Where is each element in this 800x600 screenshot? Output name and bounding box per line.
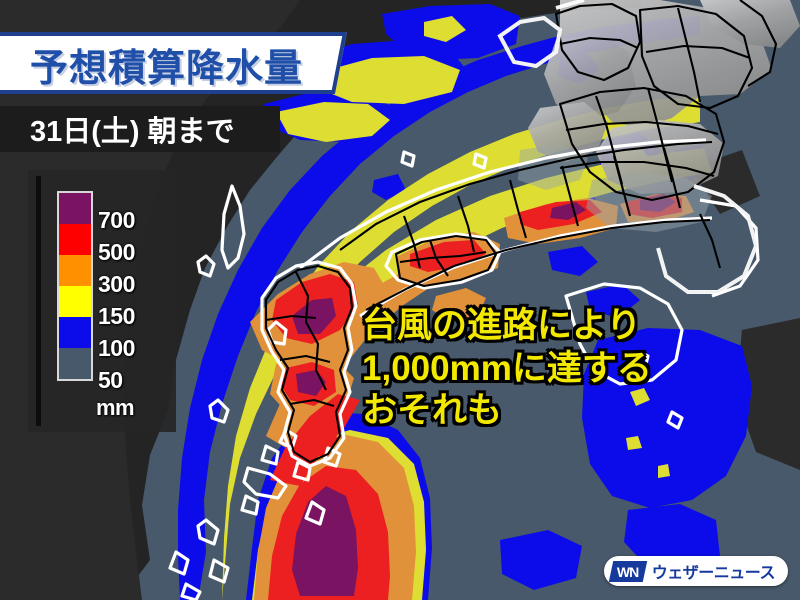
logo-brand-name: ウェザーニュース: [652, 559, 775, 583]
legend-label-500: 500: [98, 241, 135, 264]
legend-swatch-50-100: [59, 348, 91, 379]
legend-swatch-150-300: [59, 286, 91, 317]
page-title: 予想積算降水量: [30, 36, 350, 92]
legend-labels: 700 500 300 150 100 50: [98, 191, 168, 406]
legend-swatch-over-700: [59, 193, 91, 224]
legend-label-150: 150: [98, 305, 135, 328]
legend-color-bar: [57, 191, 93, 381]
weathernews-logo[interactable]: WN ウェザーニュース: [604, 556, 788, 586]
legend-label-700: 700: [98, 209, 135, 232]
legend-accent-stripe: [36, 176, 41, 426]
forecast-period-label: 31日(土) 朝まで: [30, 106, 235, 152]
headline-line-2: 1,000mmに達する: [362, 348, 792, 391]
wn-mark-icon: WN: [609, 561, 647, 582]
weather-map-screenshot: 700 500 300 150 100 50 mm 予想積算降水量 31日(土)…: [0, 0, 800, 600]
headline-line-1: 台風の進路により: [362, 305, 792, 348]
wn-mark-text: WN: [617, 563, 638, 579]
headline-overlay: 台風の進路により 1,000mmに達する おそれも: [362, 305, 792, 433]
legend-swatch-100-150: [59, 317, 91, 348]
headline-line-3: おそれも: [362, 390, 792, 433]
legend-label-100: 100: [98, 337, 135, 360]
legend-label-300: 300: [98, 273, 135, 296]
legend-unit-label: mm: [96, 395, 134, 421]
legend-swatch-300-500: [59, 255, 91, 286]
legend-label-50: 50: [98, 369, 123, 392]
legend-swatch-500-700: [59, 224, 91, 255]
